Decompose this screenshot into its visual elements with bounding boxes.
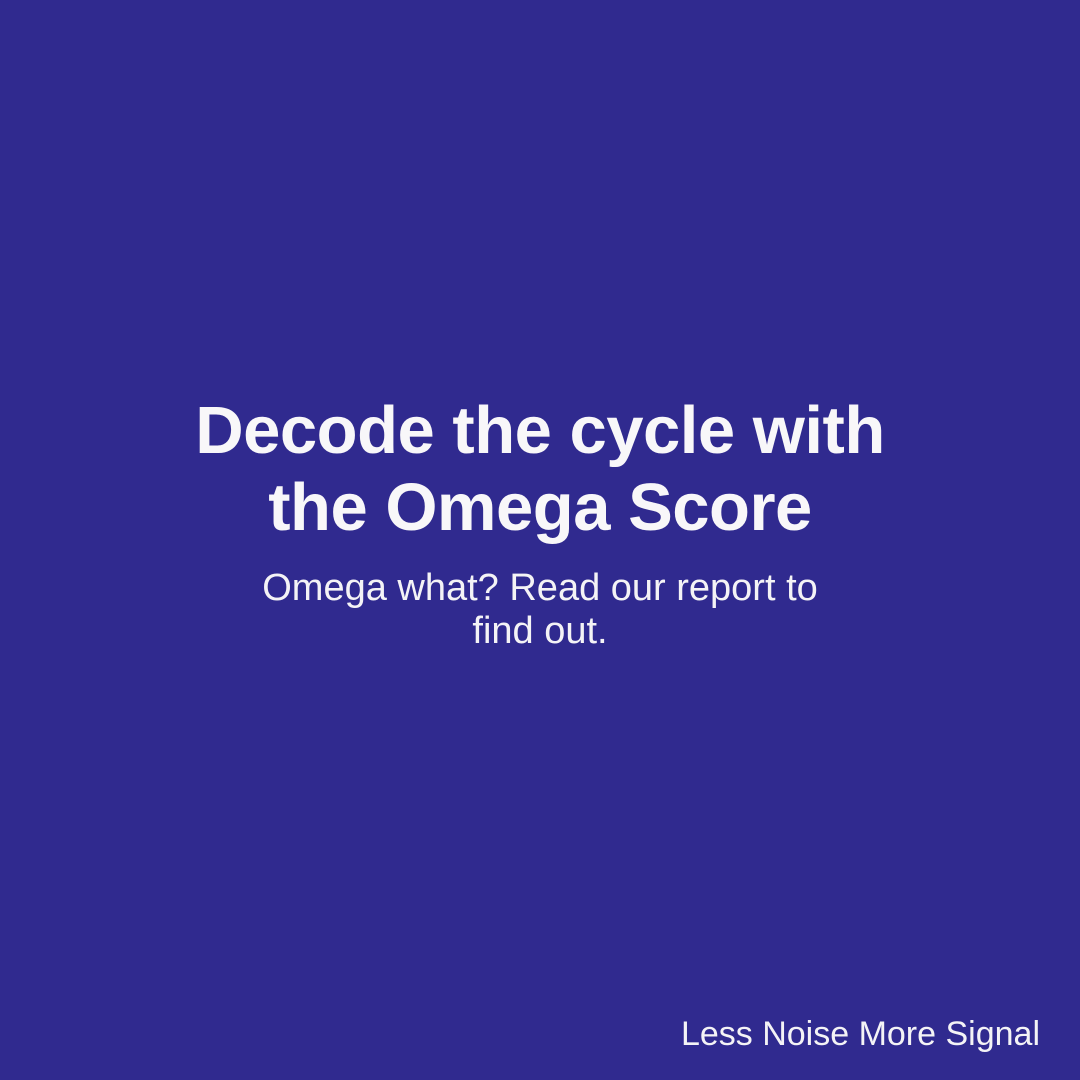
subtitle-text: Omega what? Read our report to find out. — [200, 567, 880, 653]
page-title: Decode the cycle with the Omega Score — [130, 392, 950, 546]
promo-card: Decode the cycle with the Omega Score Om… — [0, 0, 1080, 1080]
footer: Less Noise More Signal — [681, 1014, 1040, 1054]
message-block: Decode the cycle with the Omega Score Om… — [0, 392, 1080, 653]
brand-tagline: Less Noise More Signal — [681, 1014, 1040, 1054]
